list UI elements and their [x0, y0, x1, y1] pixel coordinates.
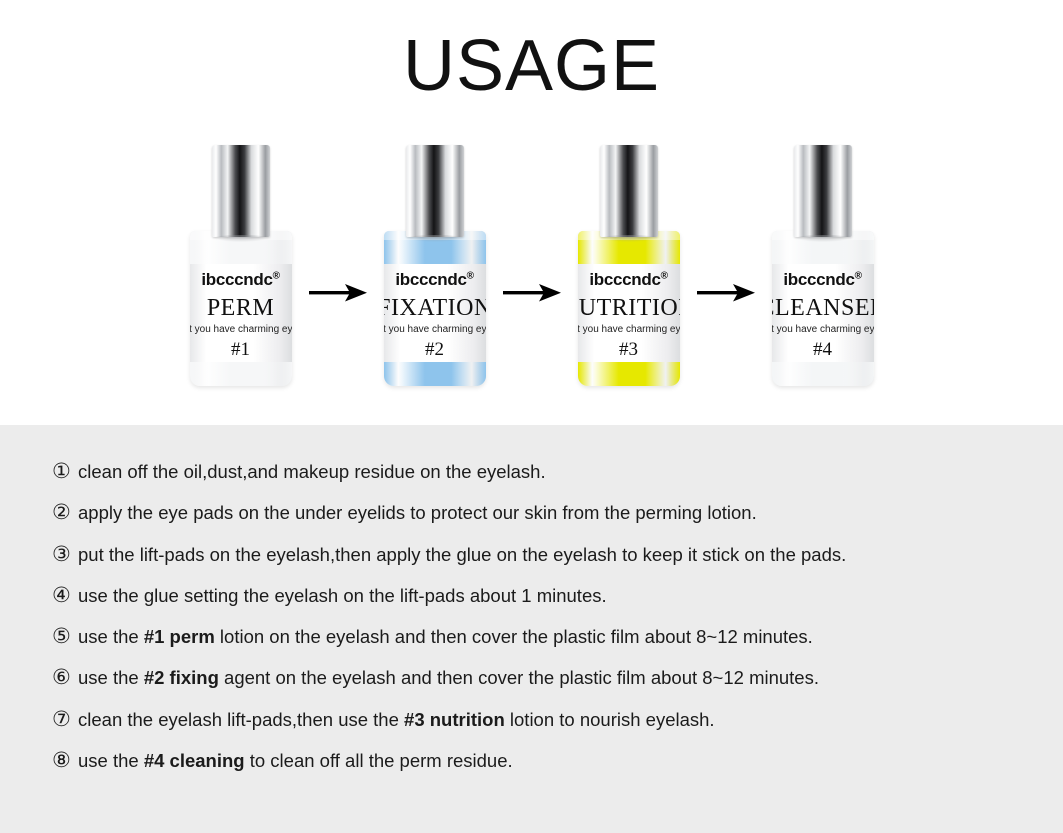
- brand-name: ibcccndc®: [589, 270, 667, 290]
- step-text: clean the eyelash lift-pads,then use the…: [78, 709, 715, 730]
- arrow-2-to-3-icon: [501, 280, 563, 306]
- step-text: use the #4 cleaning to clean off all the…: [78, 750, 513, 771]
- instruction-step: ④use the glue setting the eyelash on the…: [52, 585, 1063, 606]
- instruction-step: ①clean off the oil,dust,and makeup resid…: [52, 461, 1063, 482]
- bottle-body: ibcccndc®NUTRITIONLet you have charming …: [578, 231, 680, 386]
- step-text: use the #2 fixing agent on the eyelash a…: [78, 667, 819, 688]
- bottle-label: ibcccndc®FIXATIONLet you have charming e…: [384, 264, 486, 362]
- registered-trademark-icon: ®: [661, 270, 668, 281]
- product-tagline: Let you have charming eyes: [772, 324, 874, 335]
- arrow-1-to-2-icon: [307, 280, 369, 306]
- brand-name: ibcccndc®: [201, 270, 279, 290]
- bottle-cap: [212, 145, 270, 237]
- registered-trademark-icon: ®: [467, 270, 474, 281]
- instruction-list: ①clean off the oil,dust,and makeup resid…: [52, 461, 1063, 771]
- bottle-label: ibcccndc®PERMLet you have charming eyes#…: [190, 264, 292, 362]
- bottle-2: ibcccndc®FIXATIONLet you have charming e…: [381, 139, 489, 391]
- bottle-cap: [600, 145, 658, 237]
- product-name: NUTRITION: [578, 295, 680, 322]
- brand-name: ibcccndc®: [395, 270, 473, 290]
- bottle-label: ibcccndc®NUTRITIONLet you have charming …: [578, 264, 680, 362]
- product-sequence: ibcccndc®PERMLet you have charming eyes#…: [0, 135, 1063, 395]
- product-number: #4: [813, 339, 832, 361]
- instruction-step: ③put the lift-pads on the eyelash,then a…: [52, 544, 1063, 565]
- page-title: USAGE: [0, 30, 1063, 102]
- step-text: put the lift-pads on the eyelash,then ap…: [78, 544, 846, 565]
- step-text: apply the eye pads on the under eyelids …: [78, 502, 757, 523]
- product-tagline: Let you have charming eyes: [190, 324, 292, 335]
- step-emphasis: #4 cleaning: [144, 750, 245, 771]
- instruction-step: ⑤use the #1 perm lotion on the eyelash a…: [52, 626, 1063, 647]
- product-number: #1: [231, 339, 250, 361]
- step-number-marker: ④: [52, 585, 78, 606]
- step-number-marker: ②: [52, 502, 78, 523]
- bottle-body: ibcccndc®CLEANSERLet you have charming e…: [772, 231, 874, 386]
- step-text: use the #1 perm lotion on the eyelash an…: [78, 626, 813, 647]
- step-number-marker: ③: [52, 544, 78, 565]
- bottle-row: ibcccndc®PERMLet you have charming eyes#…: [177, 139, 887, 391]
- product-tagline: Let you have charming eyes: [384, 324, 486, 335]
- step-emphasis: #2 fixing: [144, 667, 219, 688]
- brand-name: ibcccndc®: [783, 270, 861, 290]
- bottle-1: ibcccndc®PERMLet you have charming eyes#…: [187, 139, 295, 391]
- bottle-cap: [794, 145, 852, 237]
- product-name: CLEANSER: [772, 295, 874, 322]
- step-text: clean off the oil,dust,and makeup residu…: [78, 461, 546, 482]
- step-emphasis: #1 perm: [144, 626, 215, 647]
- registered-trademark-icon: ®: [273, 270, 280, 281]
- bottle-label: ibcccndc®CLEANSERLet you have charming e…: [772, 264, 874, 362]
- arrow-3-to-4-icon: [695, 280, 757, 306]
- step-text: use the glue setting the eyelash on the …: [78, 585, 607, 606]
- instruction-step: ②apply the eye pads on the under eyelids…: [52, 502, 1063, 523]
- bottle-body: ibcccndc®PERMLet you have charming eyes#…: [190, 231, 292, 386]
- product-tagline: Let you have charming eyes: [578, 324, 680, 335]
- bottle-cap: [406, 145, 464, 237]
- step-number-marker: ⑥: [52, 667, 78, 688]
- bottle-3: ibcccndc®NUTRITIONLet you have charming …: [575, 139, 683, 391]
- step-number-marker: ⑤: [52, 626, 78, 647]
- instructions-panel: ①clean off the oil,dust,and makeup resid…: [0, 425, 1063, 833]
- step-number-marker: ①: [52, 461, 78, 482]
- step-emphasis: #3 nutrition: [404, 709, 505, 730]
- instruction-step: ⑧use the #4 cleaning to clean off all th…: [52, 750, 1063, 771]
- instruction-step: ⑥use the #2 fixing agent on the eyelash …: [52, 667, 1063, 688]
- product-name: PERM: [207, 295, 274, 322]
- bottle-4: ibcccndc®CLEANSERLet you have charming e…: [769, 139, 877, 391]
- product-number: #3: [619, 339, 638, 361]
- registered-trademark-icon: ®: [855, 270, 862, 281]
- step-number-marker: ⑧: [52, 750, 78, 771]
- step-number-marker: ⑦: [52, 709, 78, 730]
- instruction-step: ⑦clean the eyelash lift-pads,then use th…: [52, 709, 1063, 730]
- product-name: FIXATION: [384, 295, 486, 322]
- title-section: USAGE: [0, 0, 1063, 102]
- product-number: #2: [425, 339, 444, 361]
- bottle-body: ibcccndc®FIXATIONLet you have charming e…: [384, 231, 486, 386]
